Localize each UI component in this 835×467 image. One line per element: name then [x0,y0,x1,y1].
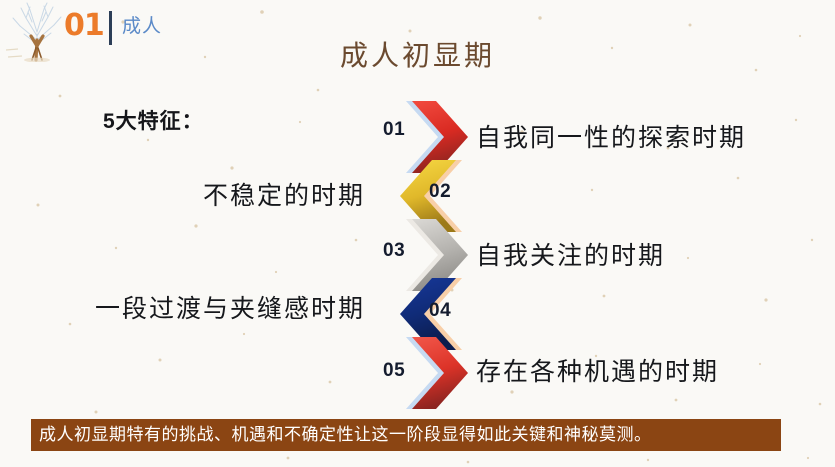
header-section-label: 成人 [122,17,162,36]
item-number-03: 03 [383,241,405,260]
footer-banner: 成人初显期特有的挑战、机遇和不确定性让这一阶段显得如此关键和神秘莫测。 [31,419,781,451]
item-number-02: 02 [429,182,451,201]
page-title: 成人初显期 [0,42,835,70]
slide-canvas: 01 成人 成人初显期 5大特征： [0,0,835,467]
item-label-02: 不稳定的时期 [203,183,365,208]
header-divider [109,11,112,45]
item-label-03: 自我关注的时期 [476,243,665,268]
section-number: 01 [64,11,104,41]
item-label-05: 存在各种机遇的时期 [476,359,719,384]
item-label-04: 一段过渡与夹缝感时期 [95,296,365,321]
item-label-01: 自我同一性的探索时期 [476,125,746,150]
footer-banner-text: 成人初显期特有的挑战、机遇和不确定性让这一阶段显得如此关键和神秘莫测。 [31,427,652,444]
item-number-01: 01 [383,120,405,139]
item-number-04: 04 [429,301,451,320]
features-caption: 5大特征： [103,111,204,132]
item-number-05: 05 [383,361,405,380]
